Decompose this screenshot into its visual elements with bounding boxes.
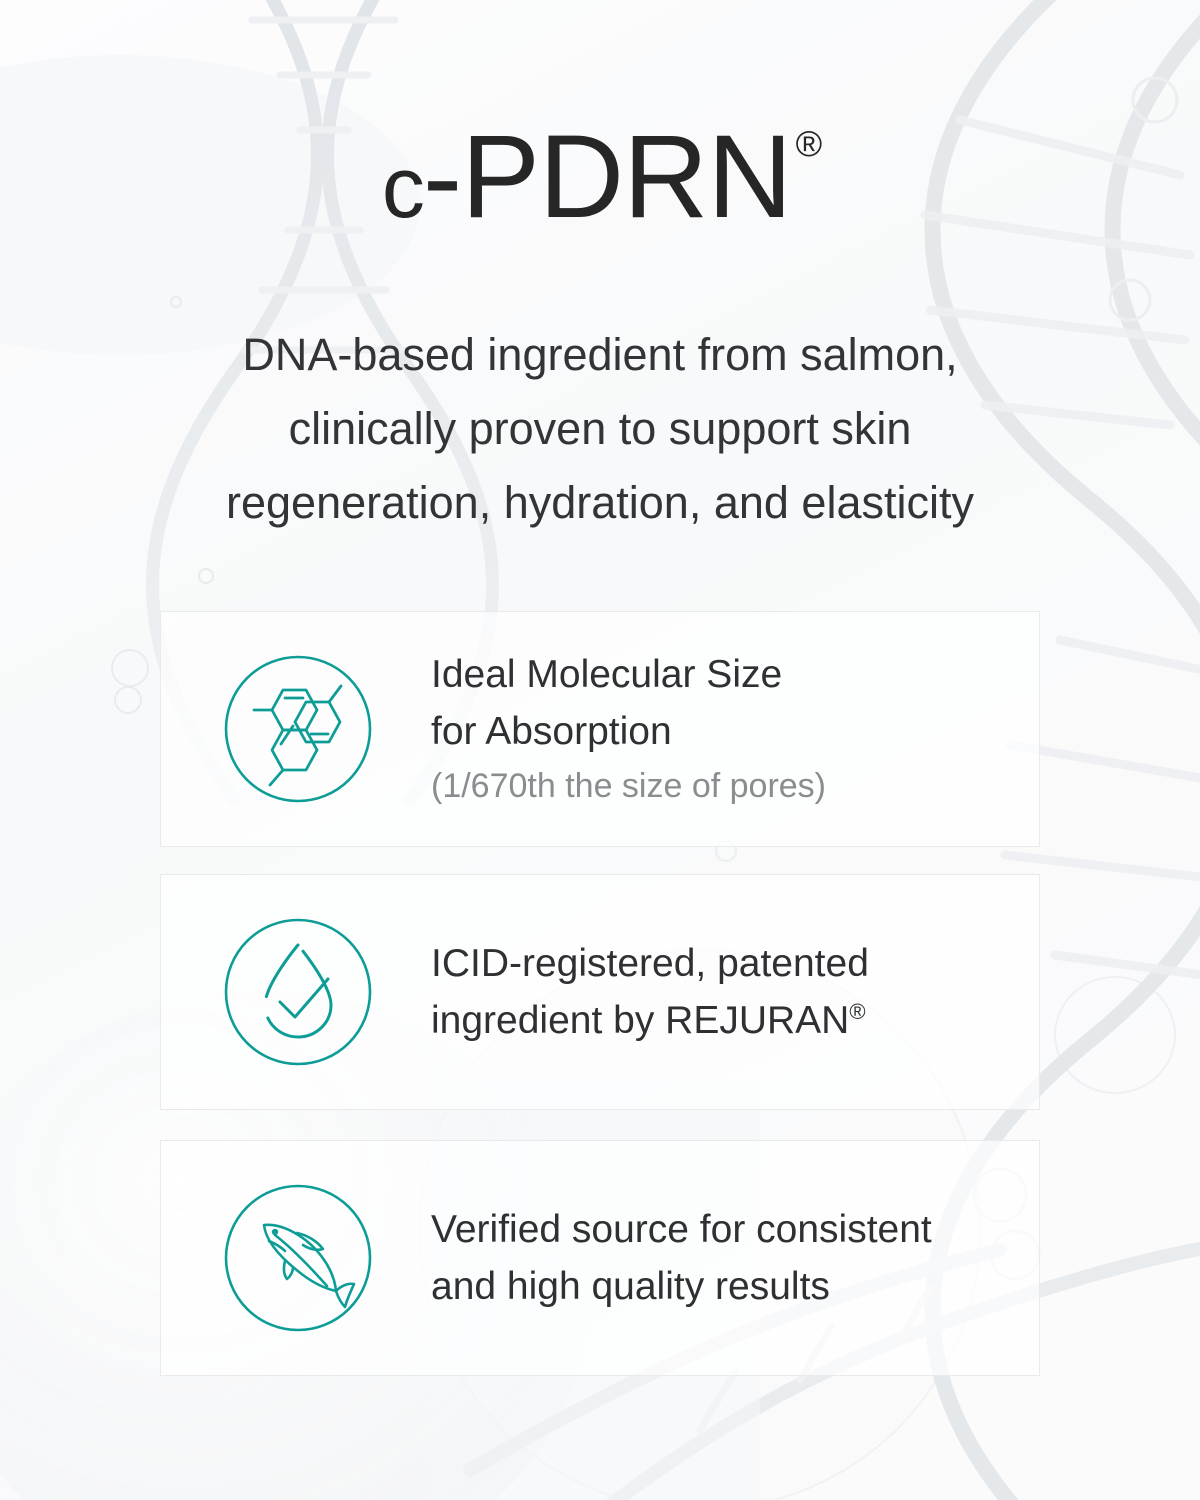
feature-line-2: for Absorption (431, 703, 1039, 760)
feature-card-text: Verified source for consistent and high … (431, 1201, 1039, 1315)
fish-icon (223, 1183, 373, 1333)
molecule-icon (223, 654, 373, 804)
feature-line-2: ingredient by REJURAN® (431, 992, 1039, 1049)
water-drop-check-icon (223, 917, 373, 1067)
page-title: c-PDRN® (0, 118, 1200, 236)
feature-card-molecular-size: Ideal Molecular Size for Absorption (1/6… (160, 611, 1040, 847)
feature-note: (1/670th the size of pores) (431, 760, 1039, 812)
feature-line-2-text: ingredient by REJURAN (431, 999, 849, 1042)
feature-card-text: ICID-registered, patented ingredient by … (431, 935, 1039, 1049)
subtitle-line-2: clinically proven to support skin (100, 392, 1100, 466)
registered-trademark-icon: ® (849, 999, 865, 1024)
registered-trademark-icon: ® (796, 123, 823, 164)
subtitle: DNA-based ingredient from salmon, clinic… (100, 318, 1100, 540)
feature-line-2: and high quality results (431, 1258, 1039, 1315)
brand-name: -PDRN (423, 111, 792, 243)
subtitle-line-1: DNA-based ingredient from salmon, (100, 318, 1100, 392)
feature-line-1: Verified source for consistent (431, 1201, 1039, 1258)
feature-card-icid-registered: ICID-registered, patented ingredient by … (160, 874, 1040, 1110)
feature-line-1: Ideal Molecular Size (431, 646, 1039, 703)
feature-line-1: ICID-registered, patented (431, 935, 1039, 992)
page-content: c-PDRN® DNA-based ingredient from salmon… (0, 0, 1200, 1500)
brand-lead-letter: c (382, 140, 423, 236)
feature-card-text: Ideal Molecular Size for Absorption (1/6… (431, 646, 1039, 812)
subtitle-line-3: regeneration, hydration, and elasticity (100, 466, 1100, 540)
feature-card-verified-source: Verified source for consistent and high … (160, 1140, 1040, 1376)
